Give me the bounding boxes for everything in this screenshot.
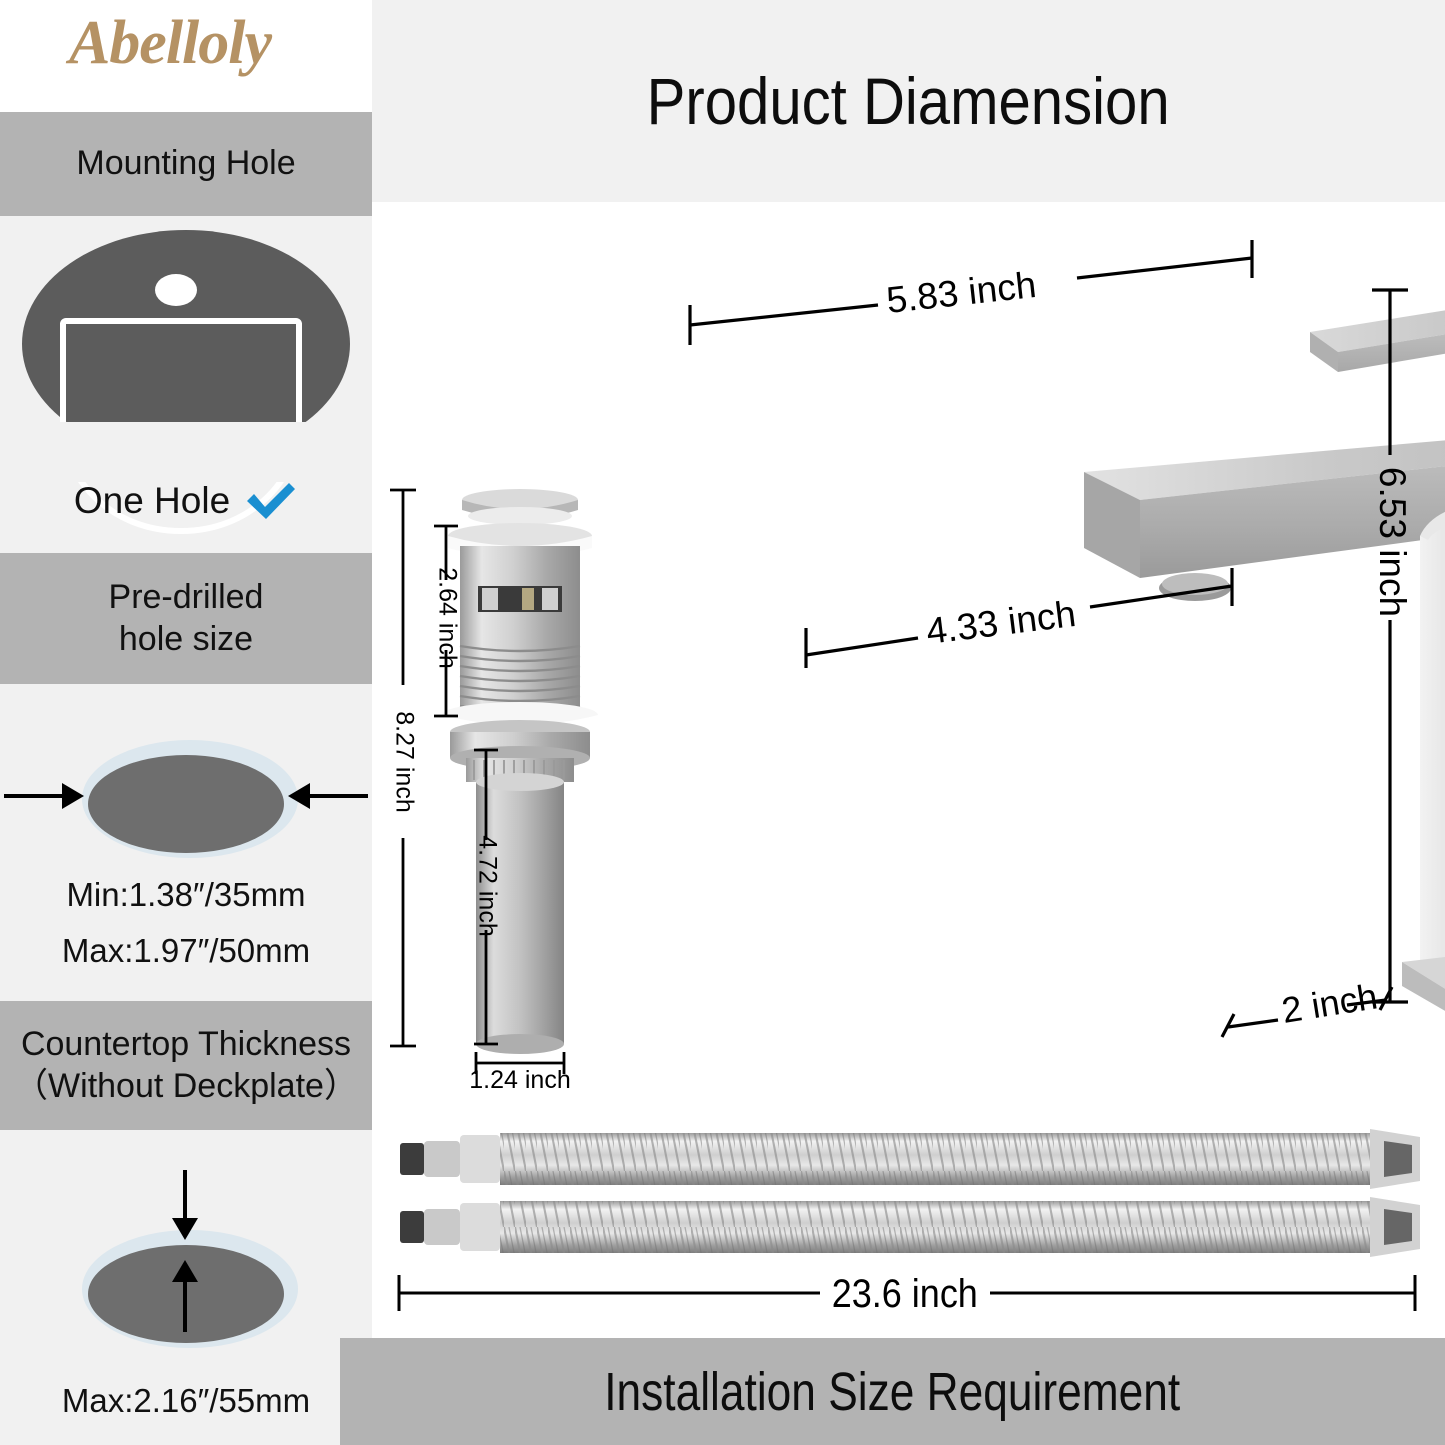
sink-mounting-hole-marker <box>155 274 197 306</box>
dimension-label-4-72: 4.72 inch <box>473 835 501 936</box>
section-heading-mounting-hole: Mounting Hole <box>0 112 372 216</box>
hole-arrow-right-shaft <box>308 794 368 798</box>
dimension-label-23-6: 23.6 inch <box>832 1272 978 1316</box>
countertop-heading-line1: Countertop Thickness <box>21 1025 351 1063</box>
predrilled-hole-diagram: Min:1.38″/35mm Max:1.97″/50mm <box>0 700 372 930</box>
one-hole-label: One Hole <box>74 480 230 522</box>
dimension-faucet-height <box>1372 290 1408 1002</box>
supply-hose-2 <box>400 1197 1420 1257</box>
countertop-max-label: Max:2.16″/55mm <box>0 1382 372 1420</box>
countertop-heading-line2: （Without Deckplate） <box>14 1067 358 1105</box>
section-heading-countertop-thickness: Countertop Thickness （Without Deckplate） <box>0 1001 372 1130</box>
dimension-label-5-83: 5.83 inch <box>884 264 1038 321</box>
predrilled-heading-line2: hole size <box>119 620 253 658</box>
checkmark-icon <box>244 481 298 521</box>
dimension-label-4-33: 4.33 inch <box>924 593 1078 652</box>
popup-drain-diagram: 2.64 inch 8.27 inch 4.72 inch <box>382 470 682 1090</box>
predrilled-heading-text: Pre-drilled hole size <box>109 577 264 660</box>
one-hole-row: One Hole <box>0 480 372 522</box>
supply-hose-1 <box>400 1129 1420 1189</box>
thickness-arrow-up-head <box>172 1260 198 1282</box>
supply-hoses-diagram: 23.6 inch <box>372 1115 1445 1325</box>
countertop-thickness-diagram: Max:2.16″/55mm <box>0 1140 372 1445</box>
drain-popup-cap <box>462 489 578 525</box>
brand-header: Abelloly <box>0 0 372 112</box>
mounting-hole-heading-text: Mounting Hole <box>76 143 295 184</box>
sink-clip-mask <box>0 422 372 482</box>
hole-arrow-right-head <box>288 783 310 809</box>
main-panel: Product Diamension <box>372 0 1445 1445</box>
footer-title: Installation Size Requirement <box>605 1361 1181 1423</box>
predrilled-min-label: Min:1.38″/35mm <box>0 876 372 914</box>
drain-threads <box>460 640 580 712</box>
faucet-handle-lever <box>1310 282 1445 372</box>
thickness-arrow-down-head <box>172 1218 198 1240</box>
drain-body <box>460 546 580 642</box>
thickness-arrow-up-shaft <box>183 1280 187 1332</box>
dimension-label-1-24: 1.24 inch <box>469 1066 570 1090</box>
installation-sidebar: Abelloly Mounting Hole One Hole Pre-dril… <box>0 0 372 1445</box>
footer-bar: Installation Size Requirement <box>340 1338 1445 1445</box>
predrilled-max-label: Max:1.97″/50mm <box>0 932 372 970</box>
brand-logo-text: Abelloly <box>0 8 340 79</box>
dimension-label-6-53: 6.53 inch <box>1372 467 1413 617</box>
countertop-heading-text: Countertop Thickness （Without Deckplate） <box>14 1024 358 1107</box>
sink-top-view-icon <box>0 222 372 472</box>
section-heading-predrilled-hole-size: Pre-drilled hole size <box>0 553 372 684</box>
dimension-label-2-inch: 2 inch <box>1279 975 1380 1031</box>
dimension-label-2-64: 2.64 inch <box>433 567 461 668</box>
hole-arrow-left-shaft <box>4 794 64 798</box>
predrilled-heading-line1: Pre-drilled <box>109 578 264 616</box>
thickness-arrow-down-shaft <box>183 1170 187 1222</box>
hole-arrow-left-head <box>62 783 84 809</box>
hole-disc-bore <box>88 755 284 853</box>
faucet-column <box>1420 452 1445 968</box>
dimension-label-8-27: 8.27 inch <box>390 711 418 812</box>
product-dimension-infographic: Abelloly Mounting Hole One Hole Pre-dril… <box>0 0 1445 1445</box>
